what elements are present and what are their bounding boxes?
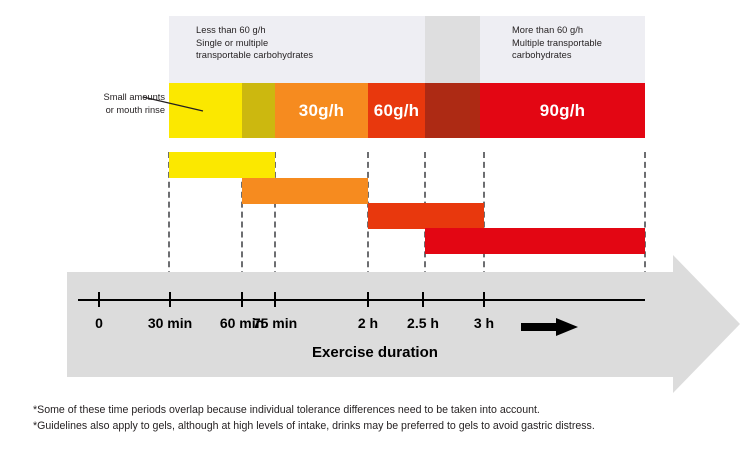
duration-bar-1 bbox=[242, 178, 368, 204]
intensity-segment-1 bbox=[242, 83, 275, 138]
footnotes: *Some of these time periods overlap beca… bbox=[33, 402, 723, 434]
intensity-segment-label: 30g/h bbox=[275, 83, 368, 138]
axis-tick-label-6: 3 h bbox=[474, 315, 494, 331]
axis-tick-6 bbox=[483, 292, 485, 307]
axis-tick-label-5: 2.5 h bbox=[407, 315, 439, 331]
axis-tick-0 bbox=[98, 292, 100, 307]
axis-tick-label-1: 30 min bbox=[148, 315, 192, 331]
axis-arrow-shaft bbox=[521, 323, 559, 331]
axis-tick-3 bbox=[274, 292, 276, 307]
axis-line bbox=[78, 299, 645, 301]
axis-title: Exercise duration bbox=[0, 344, 750, 361]
intensity-segment-3: 60g/h bbox=[368, 83, 425, 138]
intensity-segment-2: 30g/h bbox=[275, 83, 368, 138]
axis-tick-label-0: 0 bbox=[95, 315, 103, 331]
infographic-root: Less than 60 g/h Single or multiple tran… bbox=[0, 0, 750, 453]
header-panel-middle bbox=[425, 16, 480, 83]
duration-bar-3 bbox=[425, 228, 645, 254]
intensity-segment-5: 90g/h bbox=[480, 83, 645, 138]
axis-tick-label-3: 75 min bbox=[253, 315, 297, 331]
axis-tick-1 bbox=[169, 292, 171, 307]
footnote-2: *Guidelines also apply to gels, although… bbox=[33, 418, 723, 434]
axis-tick-label-4: 2 h bbox=[358, 315, 378, 331]
duration-bar-2 bbox=[368, 203, 484, 229]
leader-line bbox=[142, 95, 204, 113]
axis-arrow-head bbox=[556, 318, 578, 336]
intensity-segment-4 bbox=[425, 83, 480, 138]
axis-tick-4 bbox=[367, 292, 369, 307]
footnote-1: *Some of these time periods overlap beca… bbox=[33, 402, 723, 418]
header-right-text: More than 60 g/h Multiple transportable … bbox=[512, 24, 602, 62]
axis-tick-5 bbox=[422, 292, 424, 307]
intensity-segment-label: 90g/h bbox=[480, 83, 645, 138]
intensity-segment-label: 60g/h bbox=[368, 83, 425, 138]
timeline-banner-arrowhead bbox=[673, 255, 740, 393]
axis-tick-2 bbox=[241, 292, 243, 307]
duration-bar-0 bbox=[169, 152, 275, 178]
header-left-text: Less than 60 g/h Single or multiple tran… bbox=[196, 24, 313, 62]
